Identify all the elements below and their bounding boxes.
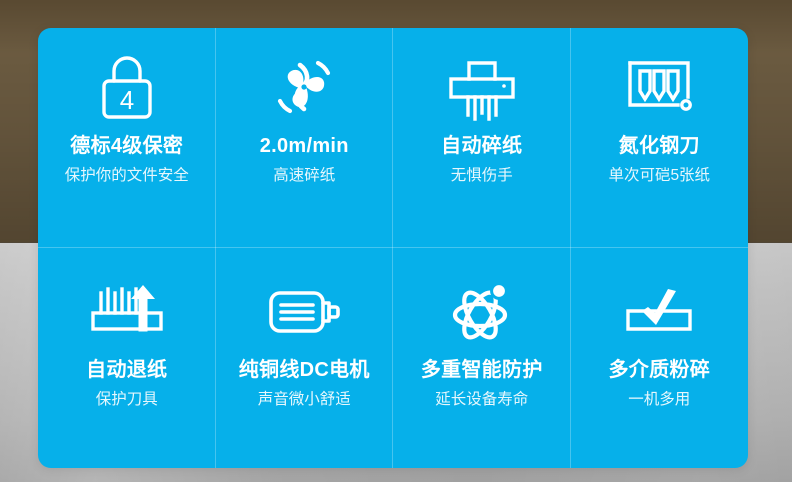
feature-cell-multi-media: 多介质粉碎 一机多用 <box>571 248 749 468</box>
feature-cell-smart-protection: 多重智能防护 延长设备寿命 <box>393 248 571 468</box>
feature-title: 纯铜线DC电机 <box>239 358 370 383</box>
feature-highlights-card: 4 德标4级保密 保护你的文件安全 <box>38 28 748 468</box>
lock-level-number: 4 <box>120 85 134 115</box>
feature-subtitle: 保护刀具 <box>96 390 158 409</box>
feature-subtitle: 延长设备寿命 <box>435 390 528 409</box>
steel-blades-icon <box>622 50 696 126</box>
paper-eject-icon <box>85 274 169 350</box>
fan-speed-icon <box>270 50 338 126</box>
feature-title: 自动退纸 <box>86 358 167 383</box>
feature-subtitle: 无惧伤手 <box>451 166 513 185</box>
lock-level4-icon: 4 <box>94 50 160 126</box>
feature-cell-dc-motor: 纯铜线DC电机 声音微小舒适 <box>216 248 394 468</box>
feature-grid: 4 德标4级保密 保护你的文件安全 <box>38 28 748 468</box>
feature-subtitle: 高速碎纸 <box>273 166 335 185</box>
feature-subtitle: 单次可硙5张纸 <box>608 166 710 185</box>
feature-title: 自动碎纸 <box>441 134 522 159</box>
feature-subtitle: 保护你的文件安全 <box>65 166 189 185</box>
feature-cell-security: 4 德标4级保密 保护你的文件安全 <box>38 28 216 248</box>
feature-title: 氮化钢刀 <box>619 134 700 159</box>
feature-subtitle: 声音微小舒适 <box>258 390 351 409</box>
feature-cell-speed: 2.0m/min 高速碎纸 <box>216 28 394 248</box>
paper-shredder-icon <box>442 50 522 126</box>
feature-title: 多介质粉碎 <box>609 358 711 383</box>
feature-title: 德标4级保密 <box>70 134 183 159</box>
feature-subtitle: 一机多用 <box>628 390 690 409</box>
dc-motor-icon <box>263 274 345 350</box>
atom-protection-icon <box>443 274 521 350</box>
feature-cell-auto-shred: 自动碎纸 无惧伤手 <box>393 28 571 248</box>
multi-media-slot-icon <box>618 274 700 350</box>
feature-cell-auto-eject: 自动退纸 保护刀具 <box>38 248 216 468</box>
feature-cell-steel-blade: 氮化钢刀 单次可硙5张纸 <box>571 28 749 248</box>
feature-title: 2.0m/min <box>260 134 349 159</box>
feature-title: 多重智能防护 <box>421 358 543 383</box>
